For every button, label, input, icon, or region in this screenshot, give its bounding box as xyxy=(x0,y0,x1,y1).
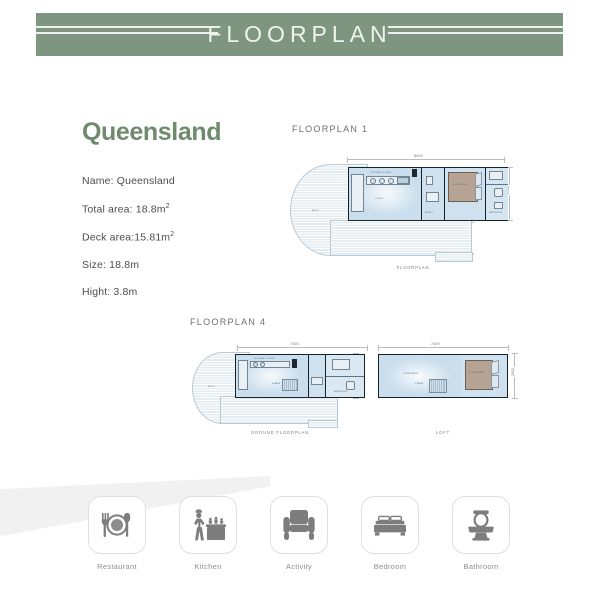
plan4-fridge xyxy=(292,359,297,368)
amenity-kitchen-label: Kitchen xyxy=(179,562,237,571)
plan1-label: FLOORPLAN 1 xyxy=(292,124,368,134)
plan1-pillow-1 xyxy=(475,172,482,187)
header-band: FLOORPLAN xyxy=(36,13,563,56)
plan4-label-deck: DECK xyxy=(208,386,214,388)
amenity-bedroom[interactable]: Bedroom xyxy=(361,496,419,571)
restaurant-icon xyxy=(98,506,136,544)
plan4-label: FLOORPLAN 4 xyxy=(190,317,266,327)
spec-value-total-area: 18.8m xyxy=(136,203,166,215)
plan1-wc xyxy=(494,188,503,197)
plan1-deck-step xyxy=(435,252,473,262)
plan1-closet-1 xyxy=(426,176,433,185)
spec-label-size: Size: xyxy=(82,259,106,271)
page-title: FLOORPLAN xyxy=(36,21,563,48)
plan1-shower-tray xyxy=(489,171,503,180)
plan1-label-bed: DOUBLE BED xyxy=(452,184,467,186)
plan4-deck-step xyxy=(308,420,338,428)
amenity-restaurant[interactable]: Restaurant xyxy=(88,496,146,571)
spec-label-name: Name: xyxy=(82,175,114,187)
loft-pillow-2 xyxy=(491,375,499,388)
amenity-activity-label: Activity xyxy=(270,562,328,571)
armchair-icon xyxy=(280,506,318,544)
plan4-drawing: KITCHEN / LIVING STAIRS BATHROOM DECK xyxy=(192,348,362,428)
plan4-vanity xyxy=(311,377,323,385)
plan4-building-shell: KITCHEN / LIVING STAIRS BATHROOM xyxy=(235,354,365,398)
plan1-dim-width-text: 8000 xyxy=(413,154,424,158)
loft-bed xyxy=(465,360,493,390)
spec-value-deck-area: 15.81m xyxy=(134,231,170,243)
amenity-bathroom[interactable]: Bathroom xyxy=(452,496,510,571)
plan1-label-entry: ENTRY xyxy=(425,212,433,214)
amenity-bedroom-label: Bedroom xyxy=(361,562,419,571)
plan4-label-kitchen: KITCHEN / LIVING xyxy=(254,358,274,360)
plan1-label-bath: BATHROOM xyxy=(489,212,502,214)
plan1-basin xyxy=(494,202,503,209)
plan1-pillow-2 xyxy=(475,187,482,200)
loft-label-open: OPEN SPACE xyxy=(403,373,418,375)
spec-row-size: Size: 18.8m xyxy=(82,259,272,271)
spec-row-deck-area: Deck area:15.81m2 xyxy=(82,231,272,244)
plan4-dim-width-text: 7400 xyxy=(289,342,300,346)
loft-label-stair: STAIRS xyxy=(415,383,423,385)
spec-value-height: 3.8m xyxy=(113,286,137,298)
plan1-stove xyxy=(397,177,409,184)
bed-icon xyxy=(371,506,409,544)
plan4-caption: GROUND FLOORPLAN xyxy=(240,430,320,435)
spec-label-total-area: Total area: xyxy=(82,203,133,215)
plan1-fridge xyxy=(412,169,417,177)
plan1-label-deck: DECK xyxy=(312,210,318,212)
plan1-label-living: LIVING xyxy=(375,198,383,200)
plan4-bath-divider xyxy=(326,376,364,377)
spec-row-total-area: Total area: 18.8m2 xyxy=(82,203,272,216)
model-name-heading: Queensland xyxy=(82,118,272,147)
plan1-deck-strip xyxy=(330,220,472,256)
loft-stairs xyxy=(429,379,447,393)
plan4-shower-tray xyxy=(332,359,350,370)
loft-label-bed: DOUBLE BED xyxy=(469,372,484,374)
plan4-cabinet-left xyxy=(238,360,248,390)
kitchen-icon xyxy=(189,506,227,544)
spec-sup-deck-area: 2 xyxy=(170,231,174,238)
plan1-drawing: KITCHEN / LIVING LIVING ENTRY DOUBLE BED… xyxy=(290,160,510,260)
plan1-bed xyxy=(448,172,478,202)
plan1-sink-1 xyxy=(370,178,376,184)
amenity-restaurant-box[interactable] xyxy=(88,496,146,554)
spec-label-height: Hight: xyxy=(82,286,110,298)
plan1-label-kitchen: KITCHEN / LIVING xyxy=(371,172,391,174)
spec-value-size: 18.8m xyxy=(109,259,139,271)
spec-label-deck-area: Deck area: xyxy=(82,231,134,243)
loft-caption: LOFT xyxy=(423,430,463,435)
plan1-hob xyxy=(388,178,394,184)
plan4-label-bath: BATHROOM xyxy=(334,391,347,393)
amenity-bathroom-box[interactable] xyxy=(452,496,510,554)
spec-row-height: Hight: 3.8m xyxy=(82,286,272,298)
amenity-restaurant-label: Restaurant xyxy=(88,562,146,571)
amenity-bathroom-label: Bathroom xyxy=(452,562,510,571)
amenities-row: Restaurant Kitchen xyxy=(88,496,512,590)
spec-row-name: Name: Queensland xyxy=(82,175,272,187)
toilet-icon xyxy=(462,506,500,544)
plan4-stairs xyxy=(282,379,298,391)
amenity-bedroom-box[interactable] xyxy=(361,496,419,554)
plan4-hob xyxy=(260,362,265,367)
spec-value-name: Queensland xyxy=(117,175,175,187)
loft-drawing: STAIRS OPEN SPACE DOUBLE BED xyxy=(375,348,515,408)
plan4-sink-1 xyxy=(253,362,258,367)
amenity-kitchen-box[interactable] xyxy=(179,496,237,554)
loft-dim-width-text: 7400 xyxy=(430,342,441,346)
plan1-building-shell: KITCHEN / LIVING LIVING ENTRY DOUBLE BED… xyxy=(348,167,508,221)
loft-building-shell: STAIRS OPEN SPACE DOUBLE BED xyxy=(378,354,508,398)
loft-room-open xyxy=(379,355,461,397)
spec-sup-total-area: 2 xyxy=(166,203,170,210)
plan1-bath-divider xyxy=(486,184,508,185)
loft-pillow-1 xyxy=(491,360,499,375)
plan4-room-lobby xyxy=(309,355,325,397)
plan1-sink-2 xyxy=(379,178,385,184)
plan4-wc xyxy=(346,381,355,390)
plan1-cabinet-left xyxy=(351,174,364,212)
amenity-activity[interactable]: Activity xyxy=(270,496,328,571)
specification-block: Queensland Name: Queensland Total area: … xyxy=(82,118,272,314)
plan4-label-stair: STAIRS xyxy=(272,383,280,385)
plan1-caption: FLOORPLAN xyxy=(373,265,453,270)
amenity-kitchen[interactable]: Kitchen xyxy=(179,496,237,571)
plan1-closet-2 xyxy=(426,192,439,202)
amenity-activity-box[interactable] xyxy=(270,496,328,554)
